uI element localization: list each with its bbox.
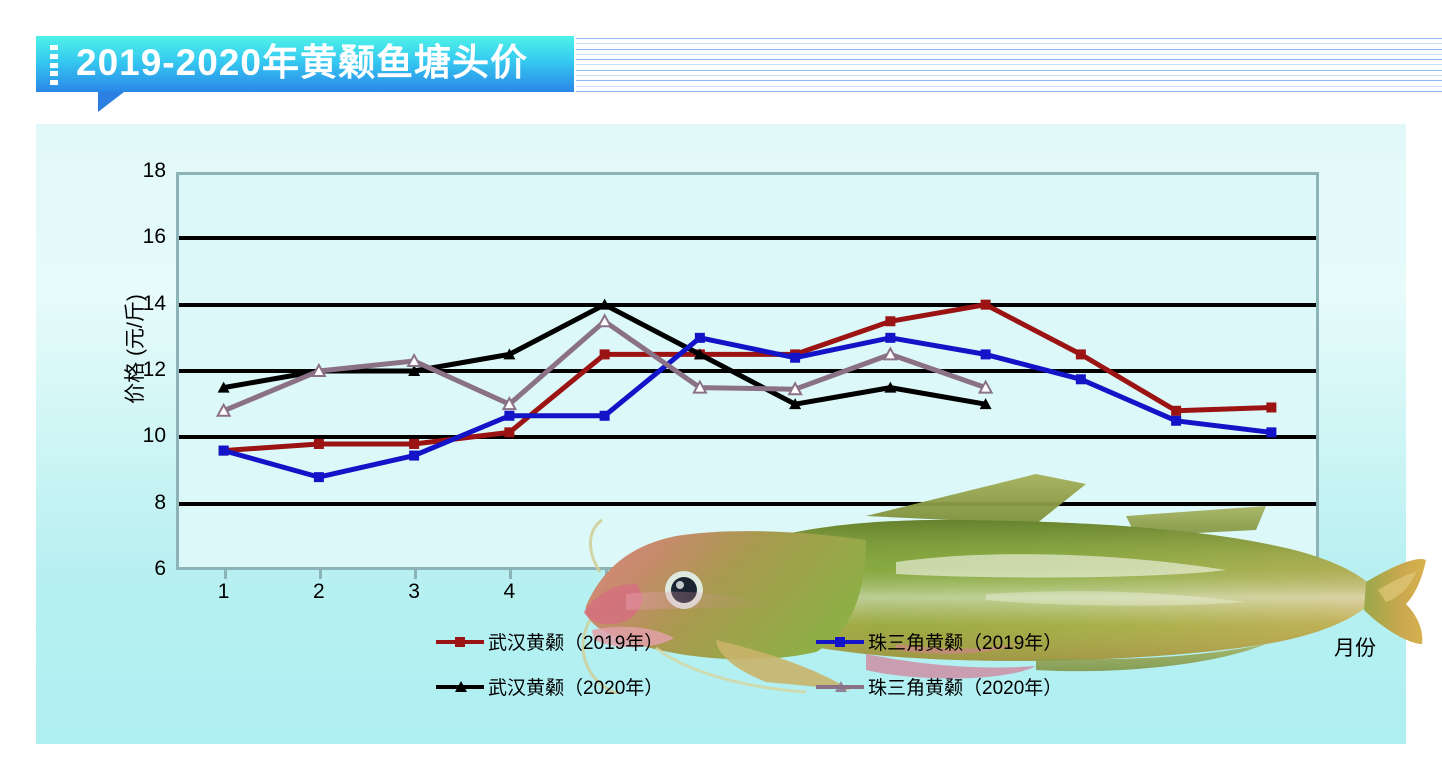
x-axis-tick: 1	[204, 580, 244, 604]
data-point-marker	[600, 411, 610, 421]
data-point-marker	[314, 472, 324, 482]
x-axis-tick: 3	[394, 580, 434, 604]
banner-dot	[50, 45, 58, 50]
x-axis-tick-mark	[700, 570, 703, 579]
legend-item[interactable]: 武汉黄颡（2020年）	[436, 669, 776, 704]
y-axis-tick: 14	[126, 292, 166, 316]
x-axis-tick-mark	[1176, 570, 1179, 579]
legend-swatch-icon	[816, 634, 864, 650]
x-axis-tick: 10	[1061, 580, 1101, 604]
banner-decor-line	[576, 43, 1442, 44]
x-axis-tick: 7	[775, 580, 815, 604]
series-triangle-open	[218, 315, 992, 416]
y-axis-tick: 6	[126, 557, 166, 581]
x-axis-tick: 9	[966, 580, 1006, 604]
banner-decor-line	[576, 38, 1442, 39]
banner-decor-line	[576, 54, 1442, 55]
legend-swatch-icon	[436, 679, 484, 695]
data-point-marker	[885, 333, 895, 343]
x-axis-tick: 6	[680, 580, 720, 604]
legend-item[interactable]: 珠三角黄颡（2020年）	[816, 669, 1156, 704]
x-axis-tick-mark	[224, 570, 227, 579]
y-axis-tick: 8	[126, 491, 166, 515]
series-layer	[176, 172, 1319, 570]
x-axis-tick-mark	[414, 570, 417, 579]
chart-panel: 价格 (元/斤) 681012141618 123456789101112 月份	[36, 124, 1406, 744]
data-point-marker	[981, 300, 991, 310]
legend-label: 珠三角黄颡（2020年）	[868, 673, 1062, 700]
y-axis-tick: 18	[126, 159, 166, 183]
y-axis-tick-labels: 681012141618	[114, 172, 166, 570]
data-point-marker	[409, 451, 419, 461]
banner-tail-decoration	[98, 92, 134, 112]
x-axis-tick-mark	[795, 570, 798, 579]
data-point-marker	[504, 411, 514, 421]
x-axis-tick-mark	[509, 570, 512, 579]
banner-dot	[50, 71, 58, 76]
banner-decor-line	[576, 70, 1442, 71]
data-point-marker	[409, 439, 419, 449]
data-point-marker	[219, 446, 229, 456]
data-point-marker	[981, 349, 991, 359]
banner-decor-line	[576, 86, 1442, 87]
data-point-marker	[599, 315, 611, 326]
data-point-marker	[695, 333, 705, 343]
data-point-marker	[504, 427, 514, 437]
banner-decorative-lines	[576, 38, 1442, 92]
x-axis-tick: 2	[299, 580, 339, 604]
legend-item[interactable]: 武汉黄颡（2019年）	[436, 624, 776, 659]
x-axis-tick: 4	[489, 580, 529, 604]
x-axis-tick-mark	[1081, 570, 1084, 579]
x-axis-tick: 5	[585, 580, 625, 604]
data-point-marker	[885, 316, 895, 326]
banner-dots-icon	[50, 45, 59, 85]
banner-dot	[50, 80, 58, 85]
legend-item[interactable]: 珠三角黄颡（2019年）	[816, 624, 1156, 659]
x-axis-ticks	[176, 570, 1319, 580]
x-axis-tick: 12	[1251, 580, 1291, 604]
data-point-marker	[1171, 406, 1181, 416]
data-point-marker	[1076, 349, 1086, 359]
series-line	[224, 321, 986, 411]
chart-legend: 武汉黄颡（2019年）珠三角黄颡（2019年）武汉黄颡（2020年）珠三角黄颡（…	[436, 624, 1156, 704]
legend-swatch-icon	[436, 634, 484, 650]
x-axis-tick-mark	[605, 570, 608, 579]
x-axis-tick-mark	[890, 570, 893, 579]
x-axis-tick-mark	[986, 570, 989, 579]
data-point-marker	[1171, 416, 1181, 426]
x-axis-title: 月份	[1334, 632, 1376, 662]
x-axis-tick-mark	[1271, 570, 1274, 579]
banner-decor-line	[576, 64, 1442, 65]
data-point-marker	[600, 349, 610, 359]
banner-dot	[50, 54, 58, 59]
data-point-marker	[1266, 427, 1276, 437]
banner-decor-line	[576, 80, 1442, 81]
x-axis-tick-labels: 123456789101112	[176, 580, 1319, 612]
x-axis-tick: 11	[1156, 580, 1196, 604]
legend-swatch-icon	[816, 679, 864, 695]
x-axis-tick-mark	[319, 570, 322, 579]
y-axis-tick: 10	[126, 424, 166, 448]
data-point-marker	[1266, 402, 1276, 412]
series-line	[224, 338, 1272, 477]
data-point-marker	[790, 353, 800, 363]
y-axis-tick: 12	[126, 358, 166, 382]
banner-dot	[50, 63, 58, 68]
x-axis-tick: 8	[870, 580, 910, 604]
legend-label: 武汉黄颡（2019年）	[488, 628, 663, 655]
banner-decor-line	[576, 49, 1442, 50]
data-point-marker	[1076, 374, 1086, 384]
legend-label: 珠三角黄颡（2019年）	[868, 628, 1062, 655]
y-axis-tick: 16	[126, 225, 166, 249]
legend-label: 武汉黄颡（2020年）	[488, 673, 663, 700]
banner-decor-line	[576, 75, 1442, 76]
banner-decor-line	[576, 59, 1442, 60]
page-title: 2019-2020年黄颡鱼塘头价	[76, 36, 528, 92]
title-banner: 2019-2020年黄颡鱼塘头价	[36, 36, 574, 92]
banner-decor-line	[576, 91, 1442, 92]
data-point-marker	[314, 439, 324, 449]
